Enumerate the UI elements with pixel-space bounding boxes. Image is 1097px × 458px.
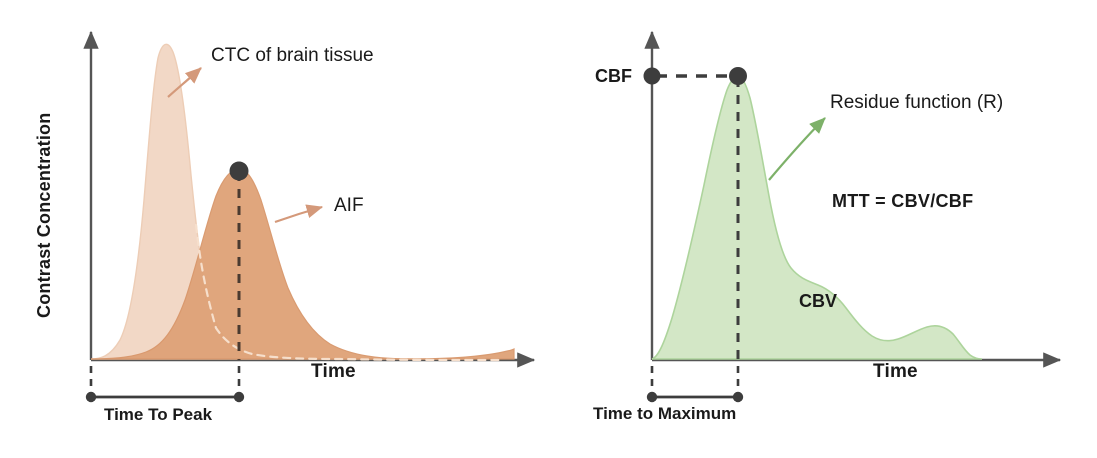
x-axis-label: Time — [311, 362, 356, 381]
ctc-callout-label: CTC of brain tissue — [211, 46, 374, 65]
right-panel-graphics — [560, 0, 1097, 458]
cbf-peak-marker — [729, 67, 747, 85]
ttp-bracket-dot-left — [86, 392, 96, 402]
cbf-label: CBF — [595, 67, 632, 85]
mtt-formula: MTT = CBV/CBF — [832, 192, 973, 210]
aif-callout-arrow — [275, 207, 322, 222]
cbf-axis-marker — [644, 68, 661, 85]
ttp-bracket-dot-right — [234, 392, 244, 402]
right-panel: CBF Residue function (R) MTT = CBV/CBF C… — [560, 0, 1097, 458]
tmax-bracket-dot-right — [733, 392, 743, 402]
time-to-peak-label: Time To Peak — [104, 406, 212, 423]
aif-peak-marker — [230, 162, 249, 181]
perfusion-diagram: Contrast Concentration Time CTC of brain… — [0, 0, 1097, 458]
residue-callout-arrow — [769, 118, 825, 180]
time-to-maximum-label: Time to Maximum — [593, 405, 736, 422]
cbv-area-label: CBV — [799, 292, 837, 310]
aif-callout-label: AIF — [334, 196, 364, 215]
tmax-bracket-dot-left — [647, 392, 657, 402]
residue-callout-label: Residue function (R) — [830, 93, 1003, 112]
left-panel-graphics — [0, 0, 560, 458]
x-axis-label: Time — [873, 362, 918, 381]
y-axis-label: Contrast Concentration — [34, 113, 55, 318]
residue-function-area — [652, 76, 982, 359]
left-panel: Contrast Concentration Time CTC of brain… — [0, 0, 560, 458]
